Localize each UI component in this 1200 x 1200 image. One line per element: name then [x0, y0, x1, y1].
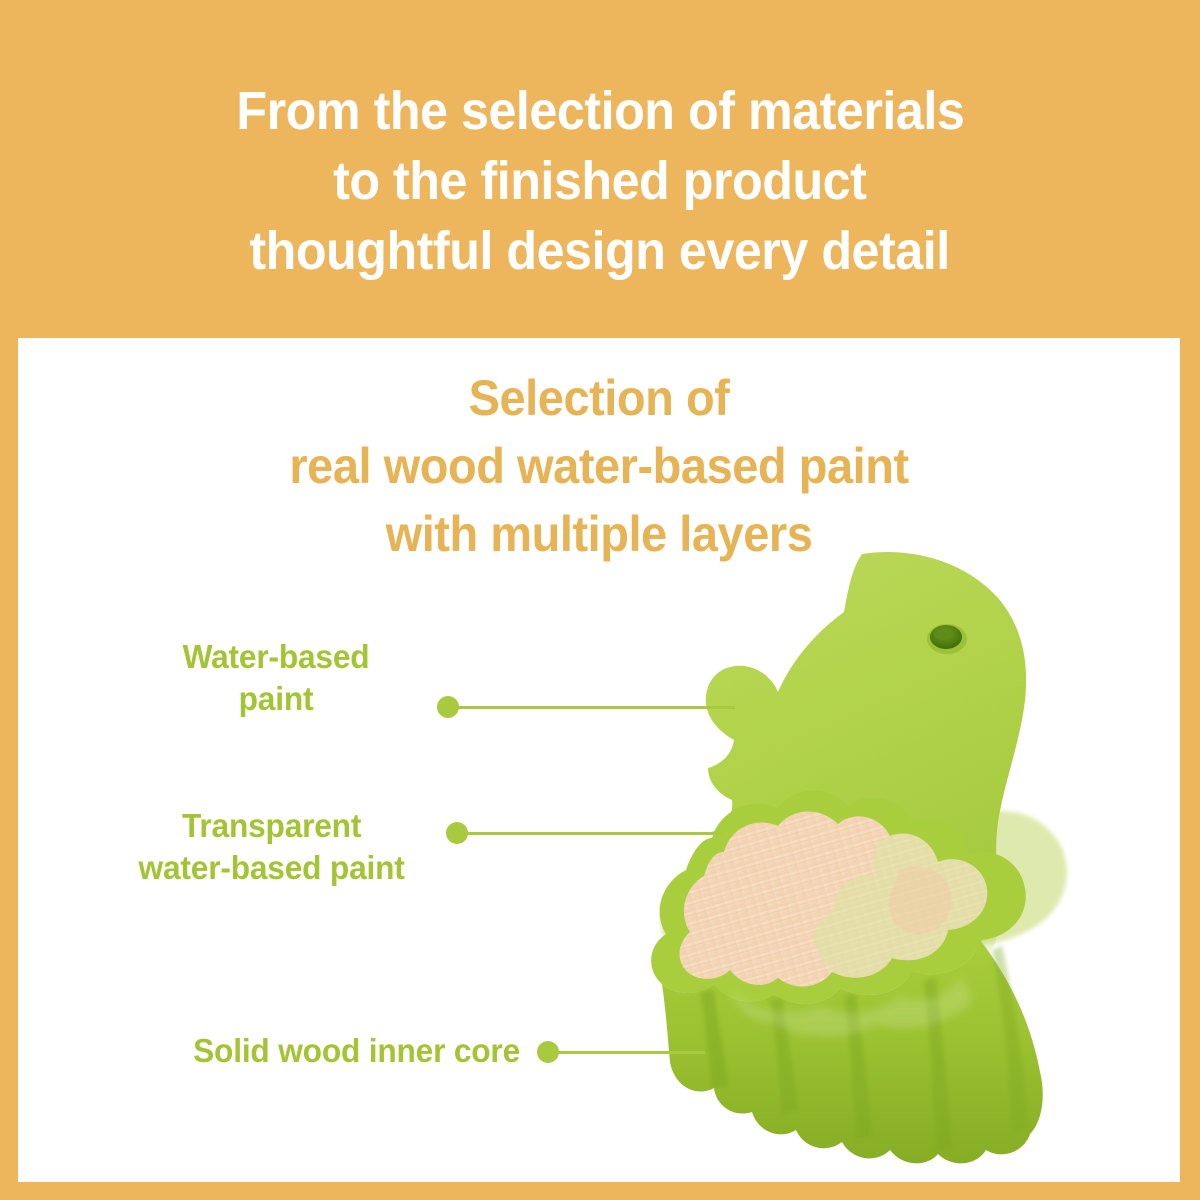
- header-line-2: to the finished product: [333, 146, 866, 216]
- callout-transparent-water-based-paint: Transparent water-based paint: [113, 805, 430, 889]
- callout-1-line-2: paint: [132, 678, 420, 720]
- leader-stroke: [555, 1051, 705, 1054]
- callout-2-line-1: Transparent: [113, 805, 430, 847]
- callout-water-based-paint: Water-based paint: [132, 636, 420, 720]
- header-band: From the selection of materials to the f…: [0, 0, 1200, 338]
- header-line-1: From the selection of materials: [236, 76, 964, 146]
- subtitle-block: Selection of real wood water-based paint…: [18, 364, 1180, 568]
- callout-2-line-2: water-based paint: [113, 847, 430, 889]
- leader-stroke: [455, 706, 735, 709]
- poster-root: From the selection of materials to the f…: [0, 0, 1200, 1200]
- subtitle-line-1: Selection of: [53, 364, 1145, 432]
- subtitle-line-2: real wood water-based paint: [53, 432, 1145, 500]
- hanging-hole: [927, 624, 967, 654]
- callout-1-line-1: Water-based: [132, 636, 420, 678]
- leader-stroke: [464, 832, 722, 835]
- callout-3-line-1: Solid wood inner core: [88, 1030, 520, 1072]
- callout-solid-wood-inner-core: Solid wood inner core: [88, 1030, 520, 1072]
- product-illustration: [600, 540, 1120, 1180]
- header-line-3: thoughtful design every detail: [250, 216, 950, 286]
